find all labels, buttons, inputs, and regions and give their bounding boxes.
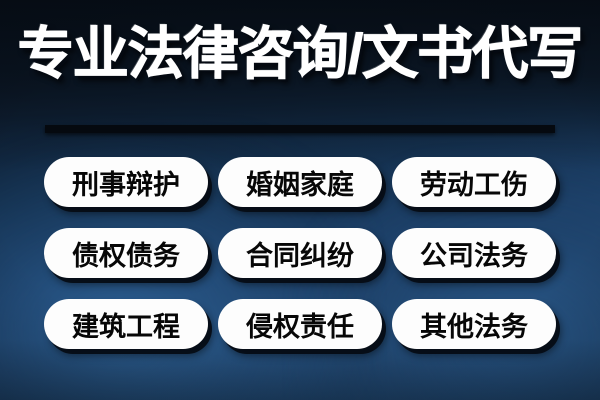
service-pill-criminal-defense[interactable]: 刑事辩护 bbox=[44, 157, 208, 207]
headline-divider bbox=[45, 125, 555, 133]
service-pill-grid: 刑事辩护 婚姻家庭 劳动工伤 债权债务 合同纠纷 公司法务 建筑工程 侵权责任 … bbox=[44, 157, 556, 349]
service-pill-contract-dispute[interactable]: 合同纠纷 bbox=[218, 228, 382, 278]
service-pill-row: 建筑工程 侵权责任 其他法务 bbox=[44, 299, 556, 349]
service-pill-labor-injury[interactable]: 劳动工伤 bbox=[392, 157, 556, 207]
legal-services-poster: 专业法律咨询/文书代写 刑事辩护 婚姻家庭 劳动工伤 债权债务 合同纠纷 公司法… bbox=[0, 0, 600, 400]
service-pill-corporate-legal[interactable]: 公司法务 bbox=[392, 228, 556, 278]
service-pill-tort-liability[interactable]: 侵权责任 bbox=[218, 299, 382, 349]
service-pill-row: 刑事辩护 婚姻家庭 劳动工伤 bbox=[44, 157, 556, 207]
poster-content: 专业法律咨询/文书代写 刑事辩护 婚姻家庭 劳动工伤 债权债务 合同纠纷 公司法… bbox=[0, 0, 600, 400]
service-pill-other-legal[interactable]: 其他法务 bbox=[392, 299, 556, 349]
service-pill-row: 债权债务 合同纠纷 公司法务 bbox=[44, 228, 556, 278]
service-pill-marriage-family[interactable]: 婚姻家庭 bbox=[218, 157, 382, 207]
poster-headline: 专业法律咨询/文书代写 bbox=[0, 26, 600, 82]
service-pill-construction-engineering[interactable]: 建筑工程 bbox=[44, 299, 208, 349]
service-pill-creditor-debt[interactable]: 债权债务 bbox=[44, 228, 208, 278]
